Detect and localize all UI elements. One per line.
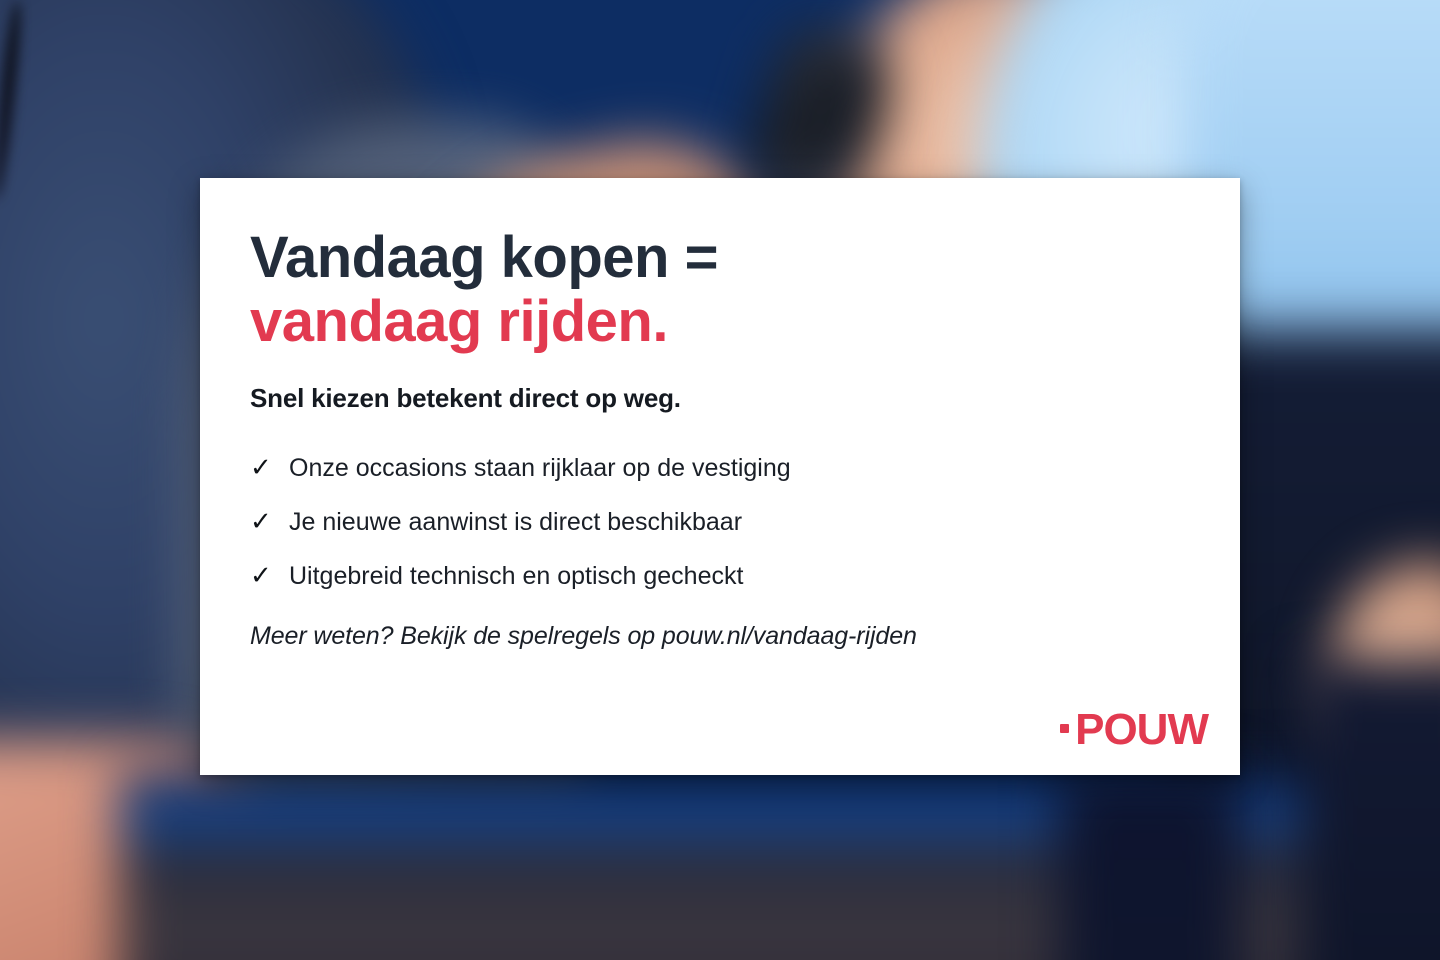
promo-card: Vandaag kopen = vandaag rijden. Snel kie…: [200, 178, 1240, 775]
benefit-list: ✓ Onze occasions staan rijklaar op de ve…: [250, 453, 1190, 591]
background-floor-dark-right: [1060, 772, 1240, 960]
subheading: Snel kiezen betekent direct op weg.: [250, 383, 1190, 414]
check-icon: ✓: [250, 454, 272, 480]
promo-card-content: Vandaag kopen = vandaag rijden. Snel kie…: [200, 178, 1240, 775]
logo-wordmark: POUW: [1075, 705, 1208, 755]
background-floor-band: [120, 772, 1440, 960]
check-icon: ✓: [250, 508, 272, 534]
benefit-text: Je nieuwe aanwinst is direct beschikbaar: [289, 507, 742, 537]
benefit-text: Onze occasions staan rijklaar op de vest…: [289, 453, 791, 483]
footnote: Meer weten? Bekijk de spelregels op pouw…: [250, 622, 1190, 651]
pouw-logo: POUW: [1060, 705, 1208, 755]
check-icon: ✓: [250, 562, 272, 588]
background-right-edge-navy: [1300, 660, 1440, 960]
list-item: ✓ Uitgebreid technisch en optisch gechec…: [250, 561, 1190, 591]
headline-line-2: vandaag rijden.: [250, 290, 1190, 354]
headline-line-1: Vandaag kopen =: [250, 225, 718, 290]
list-item: ✓ Onze occasions staan rijklaar op de ve…: [250, 453, 1190, 483]
logo-dot-icon: [1060, 724, 1069, 733]
benefit-text: Uitgebreid technisch en optisch gecheckt: [289, 561, 743, 591]
list-item: ✓ Je nieuwe aanwinst is direct beschikba…: [250, 507, 1190, 537]
page-title: Vandaag kopen = vandaag rijden.: [250, 226, 1190, 355]
promo-banner: Vandaag kopen = vandaag rijden. Snel kie…: [0, 0, 1440, 960]
